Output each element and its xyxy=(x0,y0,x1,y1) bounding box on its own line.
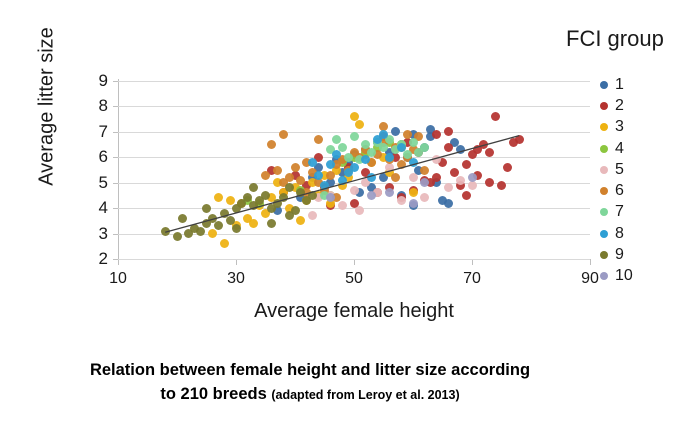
scatter-point xyxy=(208,229,217,238)
legend-item-8[interactable]: 8 xyxy=(600,223,695,244)
y-tick-label: 6 xyxy=(84,148,108,165)
legend-title: FCI group xyxy=(566,26,664,52)
x-axis-title: Average female height xyxy=(118,300,590,323)
legend-marker-icon xyxy=(600,230,608,238)
scatter-point xyxy=(291,206,300,215)
scatter-point xyxy=(338,176,347,185)
legend-item-3[interactable]: 3 xyxy=(600,117,695,138)
scatter-point xyxy=(232,224,241,233)
scatter-point xyxy=(350,132,359,141)
legend-marker-icon xyxy=(600,102,608,110)
scatter-point xyxy=(350,186,359,195)
scatter-point xyxy=(503,163,512,172)
scatter-point xyxy=(385,153,394,162)
scatter-point xyxy=(485,148,494,157)
scatter-point xyxy=(379,143,388,152)
scatter-point xyxy=(385,163,394,172)
y-tick-label: 9 xyxy=(84,72,108,89)
scatter-point xyxy=(397,196,406,205)
scatter-point xyxy=(279,193,288,202)
legend-item-9[interactable]: 9 xyxy=(600,244,695,265)
scatter-point xyxy=(385,188,394,197)
scatter-point xyxy=(403,130,412,139)
scatter-point xyxy=(355,206,364,215)
x-tick xyxy=(118,260,119,265)
scatter-point xyxy=(444,127,453,136)
y-tick-label: 3 xyxy=(84,225,108,242)
scatter-point xyxy=(344,168,353,177)
scatter-point xyxy=(267,140,276,149)
scatter-point xyxy=(456,145,465,154)
legend-item-label: 3 xyxy=(615,118,624,136)
y-axis-title: Average litter size xyxy=(36,2,59,212)
scatter-point xyxy=(409,188,418,197)
legend-marker-icon xyxy=(600,251,608,259)
scatter-point xyxy=(214,193,223,202)
scatter-point xyxy=(409,138,418,147)
figure-caption: Relation between female height and litte… xyxy=(0,358,620,407)
caption-line-1: Relation between female height and litte… xyxy=(90,361,530,379)
x-tick xyxy=(590,260,591,265)
x-tick xyxy=(354,260,355,265)
y-tick-label: 5 xyxy=(84,174,108,191)
y-tick-label: 8 xyxy=(84,97,108,114)
legend-item-label: 2 xyxy=(615,97,624,115)
scatter-point xyxy=(397,143,406,152)
legend-item-label: 9 xyxy=(615,246,624,264)
scatter-point xyxy=(468,181,477,190)
scatter-point xyxy=(291,163,300,172)
legend-marker-icon xyxy=(600,145,608,153)
scatter-point xyxy=(391,173,400,182)
scatter-point xyxy=(338,201,347,210)
legend-item-10[interactable]: 10 xyxy=(600,266,695,287)
scatter-point xyxy=(285,173,294,182)
scatter-point xyxy=(344,153,353,162)
chart-figure: 23456789 1030507090 Average litter size … xyxy=(0,0,700,436)
legend: 12345678910 xyxy=(600,74,695,287)
scatter-point xyxy=(196,227,205,236)
scatter-point xyxy=(296,216,305,225)
scatter-point xyxy=(420,193,429,202)
scatter-point xyxy=(355,120,364,129)
x-tick xyxy=(472,260,473,265)
scatter-point xyxy=(202,204,211,213)
scatter-point xyxy=(420,166,429,175)
scatter-point xyxy=(397,160,406,169)
scatter-point xyxy=(261,191,270,200)
legend-item-4[interactable]: 4 xyxy=(600,138,695,159)
scatter-point xyxy=(367,173,376,182)
legend-marker-icon xyxy=(600,123,608,131)
scatter-point xyxy=(285,183,294,192)
scatter-point xyxy=(462,191,471,200)
scatter-point xyxy=(308,211,317,220)
legend-item-label: 4 xyxy=(615,140,624,158)
scatter-point xyxy=(326,171,335,180)
legend-marker-icon xyxy=(600,187,608,195)
scatter-point xyxy=(367,191,376,200)
x-tick-label: 70 xyxy=(452,270,492,288)
legend-item-5[interactable]: 5 xyxy=(600,159,695,180)
legend-marker-icon xyxy=(600,208,608,216)
scatter-point xyxy=(468,173,477,182)
scatter-point xyxy=(497,181,506,190)
scatter-point xyxy=(161,227,170,236)
scatter-point xyxy=(456,176,465,185)
scatter-point xyxy=(485,178,494,187)
legend-marker-icon xyxy=(600,81,608,89)
scatter-point xyxy=(420,143,429,152)
scatter-point xyxy=(314,135,323,144)
legend-item-2[interactable]: 2 xyxy=(600,95,695,116)
scatter-point xyxy=(249,183,258,192)
legend-item-label: 8 xyxy=(615,225,624,243)
x-tick xyxy=(236,260,237,265)
scatter-point xyxy=(273,166,282,175)
scatter-point xyxy=(308,158,317,167)
scatter-points-layer xyxy=(118,81,590,259)
scatter-point xyxy=(515,135,524,144)
scatter-point xyxy=(261,171,270,180)
legend-item-6[interactable]: 6 xyxy=(600,180,695,201)
x-tick-label: 50 xyxy=(334,270,374,288)
scatter-point xyxy=(314,171,323,180)
scatter-point xyxy=(267,219,276,228)
scatter-point xyxy=(379,130,388,139)
legend-item-label: 1 xyxy=(615,76,624,94)
legend-marker-icon xyxy=(600,166,608,174)
legend-item-label: 5 xyxy=(615,161,624,179)
scatter-point xyxy=(249,219,258,228)
scatter-point xyxy=(320,181,329,190)
legend-item-1[interactable]: 1 xyxy=(600,74,695,95)
scatter-point xyxy=(178,214,187,223)
scatter-point xyxy=(409,199,418,208)
x-tick-label: 30 xyxy=(216,270,256,288)
scatter-point xyxy=(214,221,223,230)
legend-item-label: 10 xyxy=(615,267,633,285)
caption-line-2: to 210 breeds xyxy=(160,385,266,403)
legend-item-label: 7 xyxy=(615,203,624,221)
legend-marker-icon xyxy=(600,272,608,280)
x-tick-label: 10 xyxy=(98,270,138,288)
scatter-point xyxy=(173,232,182,241)
scatter-point xyxy=(409,173,418,182)
scatter-point xyxy=(473,145,482,154)
scatter-point xyxy=(409,158,418,167)
y-tick-label: 7 xyxy=(84,123,108,140)
scatter-point xyxy=(332,150,341,159)
caption-source: (adapted from Leroy et al. 2013) xyxy=(271,388,459,402)
scatter-point xyxy=(444,199,453,208)
y-tick-label: 4 xyxy=(84,199,108,216)
legend-item-label: 6 xyxy=(615,182,624,200)
scatter-point xyxy=(491,112,500,121)
y-tick-label: 2 xyxy=(84,250,108,267)
scatter-point xyxy=(432,130,441,139)
scatter-point xyxy=(444,183,453,192)
scatter-point xyxy=(444,143,453,152)
scatter-point xyxy=(279,130,288,139)
legend-item-7[interactable]: 7 xyxy=(600,202,695,223)
scatter-point xyxy=(220,239,229,248)
scatter-point xyxy=(462,160,471,169)
scatter-point xyxy=(332,135,341,144)
